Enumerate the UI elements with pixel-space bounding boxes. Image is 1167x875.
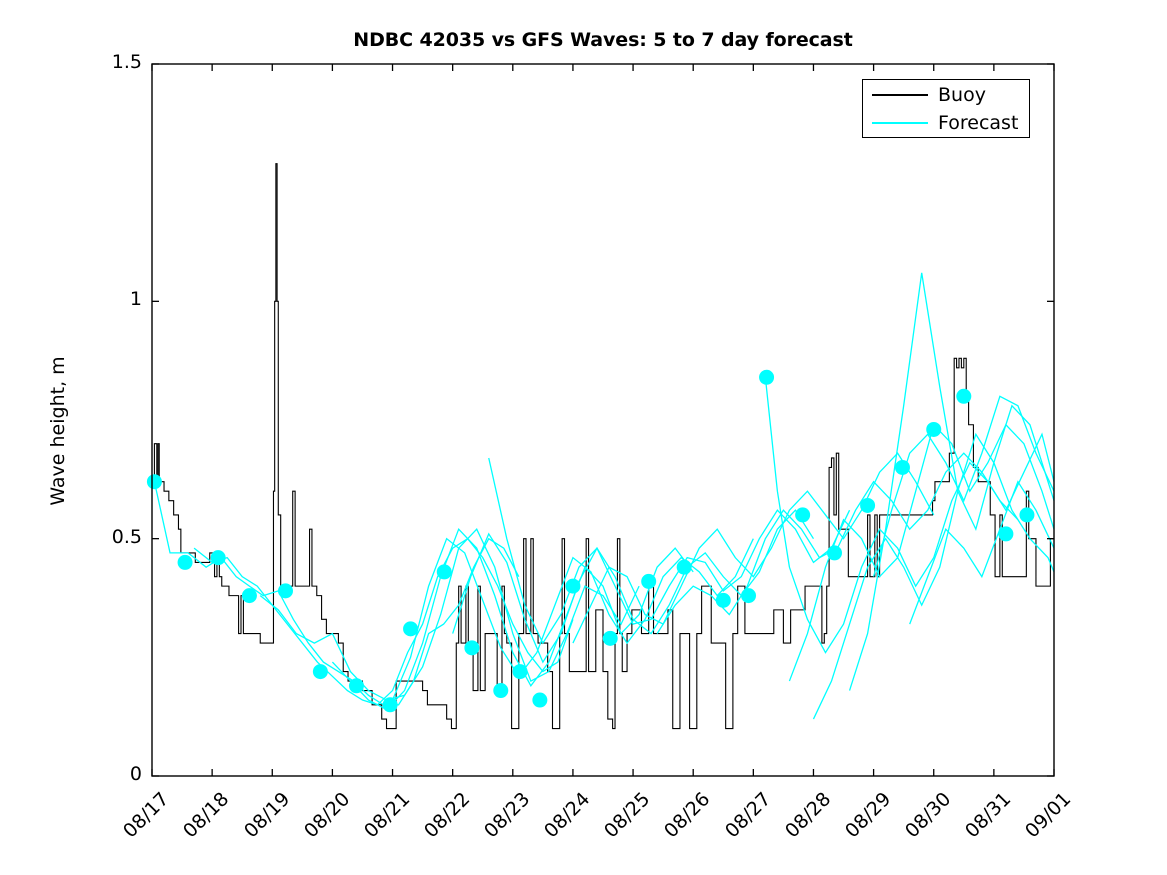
y-tick-label: 1 [130,288,142,310]
forecast-marker [603,631,618,646]
forecast-marker [716,593,731,608]
forecast-marker [895,460,910,475]
forecast-marker [313,664,328,679]
legend-entry-buoy[interactable]: Buoy [863,81,1029,109]
forecast-marker [437,564,452,579]
legend[interactable]: Buoy Forecast [862,79,1030,138]
legend-swatch-forecast [872,122,928,124]
forecast-series-line-13 [850,273,1054,691]
y-tick-label: 0 [130,763,142,785]
forecast-marker [211,550,226,565]
forecast-marker [827,545,842,560]
forecast-marker [677,560,692,575]
forecast-marker [493,683,508,698]
forecast-series-line-2 [194,539,573,705]
forecast-marker [349,678,364,693]
forecast-marker [565,579,580,594]
forecast-marker [532,693,547,708]
forecast-marker [383,697,398,712]
forecast-series-line-4 [332,529,693,709]
forecast-series-line-1 [154,482,518,705]
forecast-marker [242,588,257,603]
forecast-marker [860,498,875,513]
forecast-marker [998,526,1013,541]
forecast-marker [1019,507,1034,522]
legend-label-buoy: Buoy [938,86,986,105]
forecast-marker [795,507,810,522]
forecast-marker [741,588,756,603]
buoy-series-line [152,164,1054,729]
forecast-marker [759,370,774,385]
y-tick-label: 1.5 [112,51,142,73]
forecast-marker [641,574,656,589]
forecast-marker [513,664,528,679]
forecast-marker [178,555,193,570]
legend-swatch-buoy [872,94,928,96]
y-tick-label: 0.5 [112,526,142,548]
series-layer [152,164,1054,729]
legend-label-forecast: Forecast [938,114,1018,133]
forecast-marker [956,389,971,404]
forecast-marker [278,583,293,598]
forecast-marker [147,474,162,489]
forecast-marker [464,640,479,655]
legend-entry-forecast[interactable]: Forecast [863,109,1029,137]
forecast-marker [403,621,418,636]
forecast-marker [926,422,941,437]
figure-canvas: NDBC 42035 vs GFS Waves: 5 to 7 day fore… [0,0,1167,875]
